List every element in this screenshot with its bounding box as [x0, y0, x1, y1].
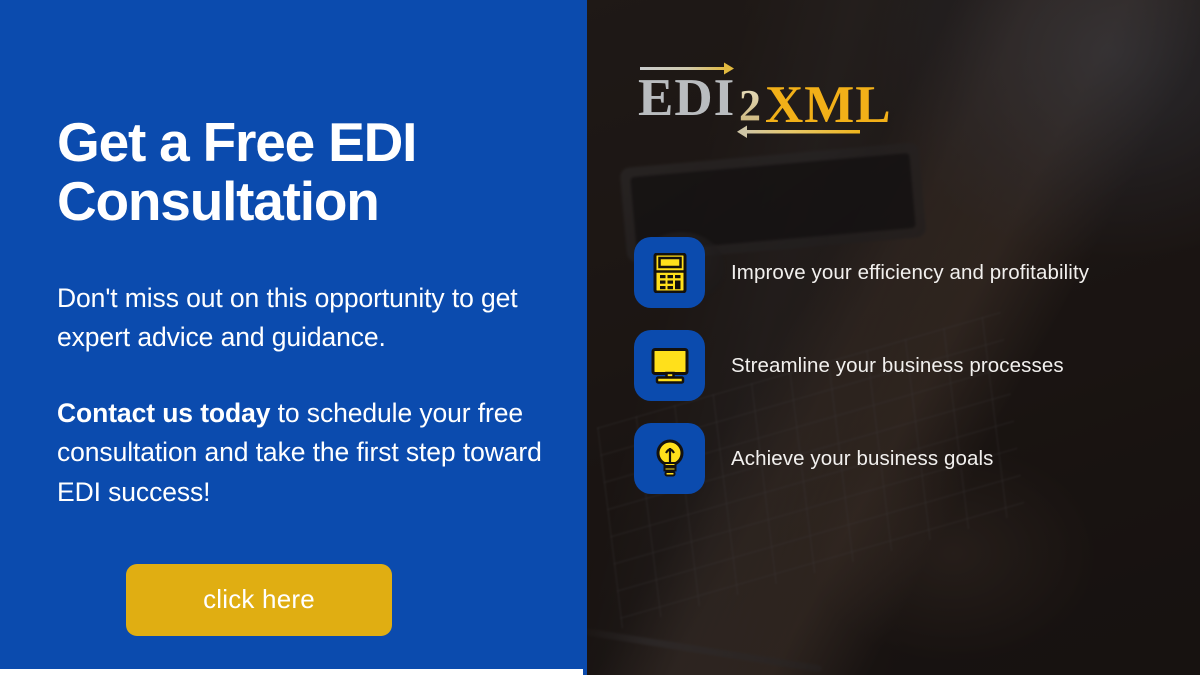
right-media-panel: EDI 2 XML: [583, 0, 1200, 675]
promo-banner: Get a Free EDI Consultation Don't miss o…: [0, 0, 1200, 675]
calculator-icon: [653, 253, 687, 293]
paragraph-opportunity: Don't miss out on this opportunity to ge…: [57, 279, 552, 357]
body-copy: Don't miss out on this opportunity to ge…: [57, 279, 552, 512]
left-content-panel: Get a Free EDI Consultation Don't miss o…: [0, 0, 583, 672]
contact-us-today-emphasis: Contact us today: [57, 398, 270, 428]
click-here-button[interactable]: click here: [126, 564, 392, 636]
list-item[interactable]: Streamline your business processes: [634, 330, 1089, 401]
lightbulb-icon: [655, 438, 685, 480]
list-item[interactable]: Improve your efficiency and profitabilit…: [634, 237, 1089, 308]
logo-text-two: 2: [739, 81, 761, 130]
list-item[interactable]: Achieve your business goals: [634, 423, 1089, 494]
monitor-icon: [650, 348, 690, 384]
feature-label: Achieve your business goals: [731, 447, 994, 471]
logo-text-xml: XML: [765, 76, 892, 134]
bottom-divider: [0, 669, 583, 672]
feature-icon-tile: [634, 237, 705, 308]
feature-label: Improve your efficiency and profitabilit…: [731, 261, 1089, 285]
logo-text-edi: EDI: [638, 69, 735, 127]
edi2xml-logo[interactable]: EDI 2 XML: [635, 52, 925, 142]
page-title: Get a Free EDI Consultation: [57, 113, 537, 232]
feature-icon-tile: [634, 423, 705, 494]
paragraph-contact: Contact us today to schedule your free c…: [57, 394, 552, 512]
logo-svg: EDI 2 XML: [635, 52, 925, 142]
panel-blue-edge: [583, 0, 587, 675]
feature-label: Streamline your business processes: [731, 354, 1064, 378]
feature-list: Improve your efficiency and profitabilit…: [634, 237, 1089, 494]
feature-icon-tile: [634, 330, 705, 401]
